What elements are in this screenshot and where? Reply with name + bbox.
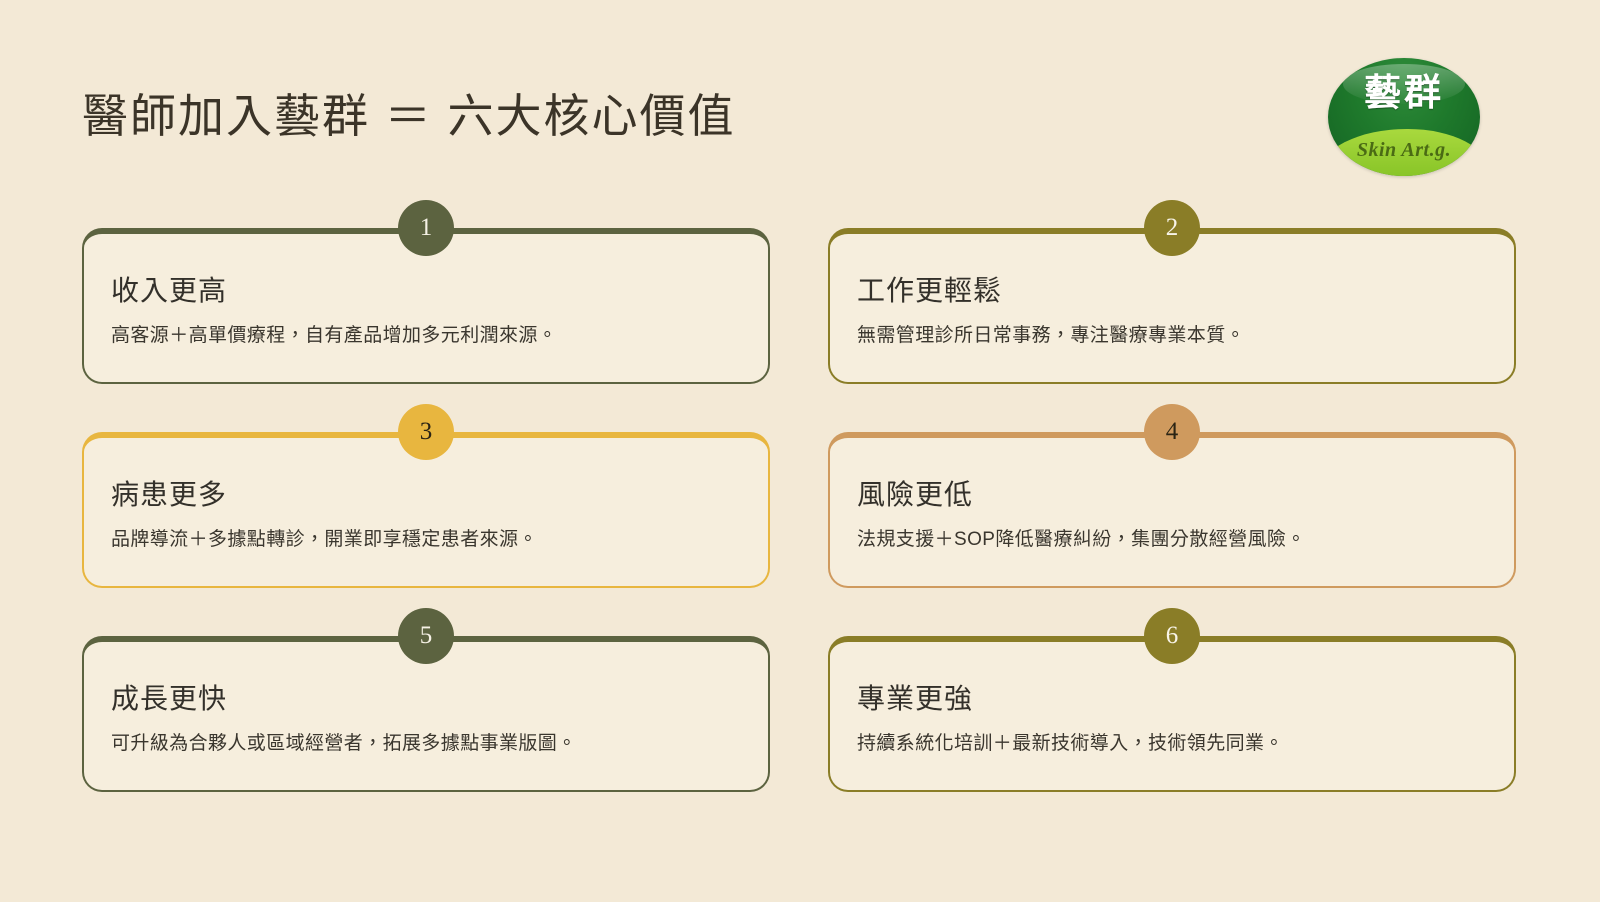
value-card-6: 專業更強 持續系統化培訓＋最新技術導入，技術領先同業。 6 — [828, 636, 1516, 792]
card-description-2: 無需管理診所日常事務，專注醫療專業本質。 — [857, 323, 1514, 350]
card-description-6: 持續系統化培訓＋最新技術導入，技術領先同業。 — [857, 731, 1514, 758]
logo-chinese-text: 藝群 — [1328, 74, 1480, 113]
logo-english-text: Skin Art.g. — [1328, 139, 1480, 162]
card-title-5: 成長更快 — [111, 682, 768, 716]
value-card-5: 成長更快 可升級為合夥人或區域經營者，拓展多據點事業版圖。 5 — [82, 636, 770, 792]
card-title-2: 工作更輕鬆 — [857, 274, 1514, 308]
card-title-1: 收入更高 — [111, 274, 768, 308]
card-title-6: 專業更強 — [857, 682, 1514, 716]
card-number-badge-3: 3 — [398, 404, 454, 460]
page-title: 醫師加入藝群 ＝ 六大核心價值 — [82, 93, 736, 139]
card-description-5: 可升級為合夥人或區域經營者，拓展多據點事業版圖。 — [111, 731, 768, 758]
card-description-3: 品牌導流＋多據點轉診，開業即享穩定患者來源。 — [111, 527, 768, 554]
value-card-4: 風險更低 法規支援＋SOP降低醫療糾紛，集團分散經營風險。 4 — [828, 432, 1516, 588]
card-number-badge-6: 6 — [1144, 608, 1200, 664]
card-number-badge-4: 4 — [1144, 404, 1200, 460]
card-description-4: 法規支援＋SOP降低醫療糾紛，集團分散經營風險。 — [857, 527, 1514, 554]
brand-logo: 藝群 Skin Art.g. — [1328, 58, 1480, 176]
value-card-2: 工作更輕鬆 無需管理診所日常事務，專注醫療專業本質。 2 — [828, 228, 1516, 384]
value-card-1: 收入更高 高客源＋高單價療程，自有產品增加多元利潤來源。 1 — [82, 228, 770, 384]
card-number-badge-5: 5 — [398, 608, 454, 664]
card-number-badge-2: 2 — [1144, 200, 1200, 256]
card-title-4: 風險更低 — [857, 478, 1514, 512]
card-title-3: 病患更多 — [111, 478, 768, 512]
value-card-3: 病患更多 品牌導流＋多據點轉診，開業即享穩定患者來源。 3 — [82, 432, 770, 588]
card-description-1: 高客源＋高單價療程，自有產品增加多元利潤來源。 — [111, 323, 768, 350]
value-card-grid: 收入更高 高客源＋高單價療程，自有產品增加多元利潤來源。 1 工作更輕鬆 無需管… — [82, 228, 1516, 792]
card-number-badge-1: 1 — [398, 200, 454, 256]
